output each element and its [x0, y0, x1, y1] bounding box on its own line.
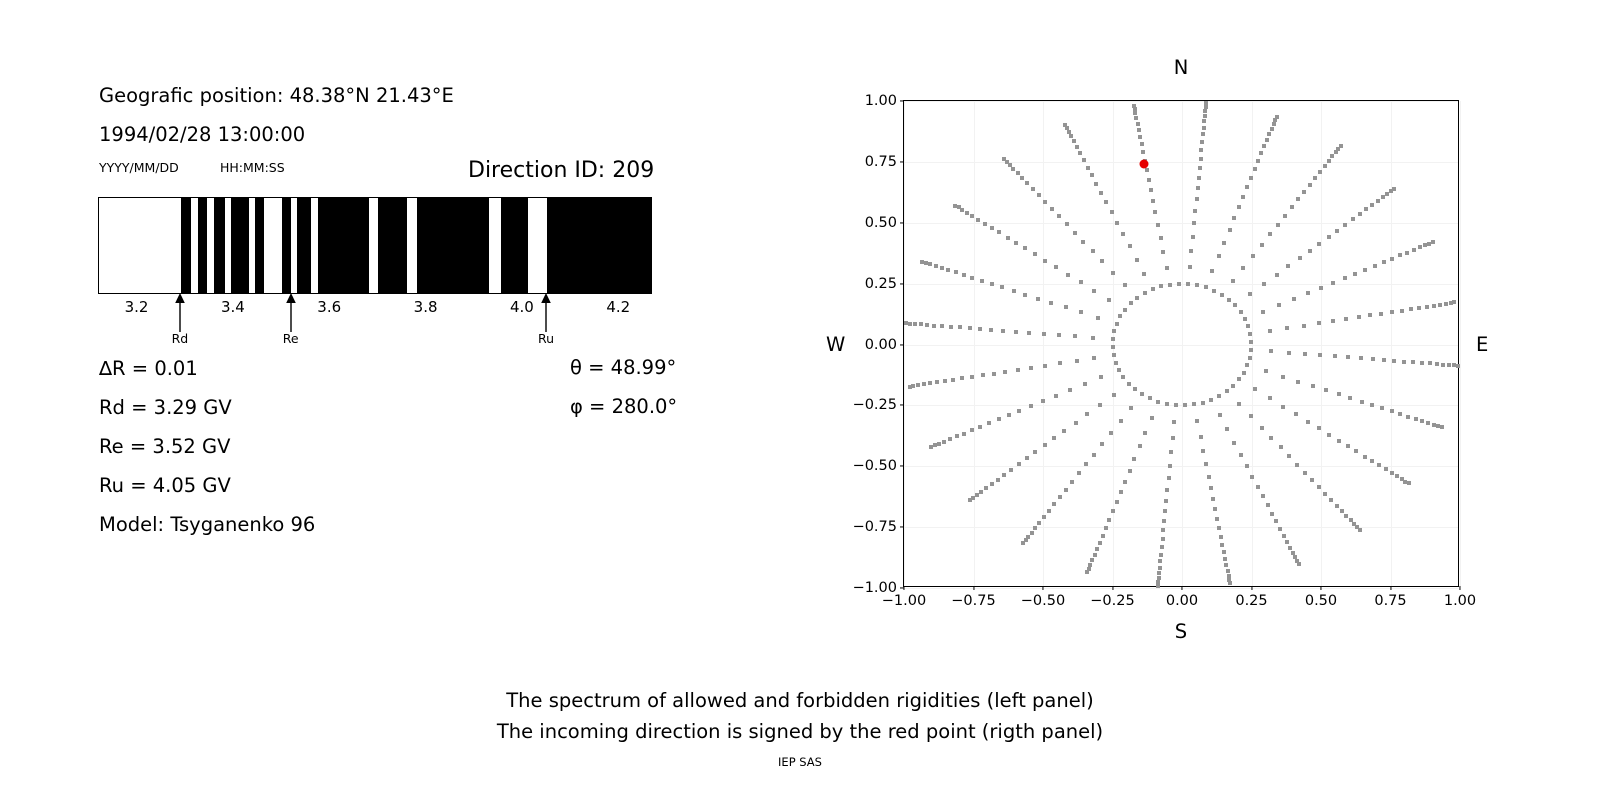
direction-point — [1303, 471, 1307, 475]
direction-point — [1318, 353, 1322, 357]
direction-point — [942, 440, 946, 444]
y-tick-mark — [900, 405, 904, 406]
rigidity-marker-re: Re — [284, 292, 298, 332]
direction-point — [1162, 519, 1166, 523]
direction-point — [1192, 402, 1196, 406]
direction-point — [1411, 360, 1415, 364]
direction-point — [924, 261, 928, 265]
direction-point — [1382, 358, 1386, 362]
caption-line-2: The incoming direction is signed by the … — [0, 716, 1600, 747]
direction-point — [1297, 562, 1301, 566]
direction-point — [1265, 138, 1269, 142]
y-tick-label: −0.50 — [853, 458, 897, 474]
direction-point — [1382, 260, 1386, 264]
direction-point — [1308, 183, 1312, 187]
direction-point — [1228, 228, 1232, 232]
y-tick-mark — [900, 222, 904, 223]
direction-point — [946, 268, 950, 272]
rigidity-tick-label: 4.0 — [510, 298, 534, 316]
direction-point — [1203, 109, 1207, 113]
direction-point — [1041, 399, 1045, 403]
forbidden-band — [318, 198, 369, 293]
y-tick-label: −0.75 — [853, 519, 897, 535]
y-tick-mark — [900, 100, 904, 101]
direction-point — [1420, 361, 1424, 365]
direction-point — [920, 260, 924, 264]
direction-point — [1133, 387, 1137, 391]
direction-point — [1132, 457, 1136, 461]
direction-point — [1343, 276, 1347, 280]
direction-point — [1270, 127, 1274, 131]
direction-point — [1075, 145, 1079, 149]
direction-point — [1400, 309, 1404, 313]
direction-point — [1407, 481, 1411, 485]
direction-point — [1118, 314, 1122, 318]
direction-point — [970, 276, 974, 280]
direction-point — [1210, 269, 1214, 273]
direction-point — [1093, 553, 1097, 557]
direction-point — [916, 383, 920, 387]
direction-point — [1195, 197, 1199, 201]
gridline-vertical — [904, 101, 905, 586]
direction-point — [1141, 150, 1145, 154]
direction-point — [1123, 283, 1127, 287]
direction-point — [1128, 469, 1132, 473]
direction-point — [1136, 122, 1140, 126]
direction-point — [1017, 462, 1021, 466]
direction-point — [1143, 291, 1147, 295]
datetime-label: 1994/02/28 13:00:00 — [99, 123, 305, 146]
direction-point — [1134, 116, 1138, 120]
direction-point — [1253, 167, 1257, 171]
direction-point — [904, 321, 908, 325]
direction-point — [1092, 356, 1096, 360]
direction-point — [1062, 429, 1066, 433]
direction-point — [955, 434, 959, 438]
direction-point — [1337, 392, 1341, 396]
direction-point — [1290, 205, 1294, 209]
forbidden-band — [501, 198, 527, 293]
direction-point — [1249, 176, 1253, 180]
direction-point — [1217, 526, 1221, 530]
direction-point — [1262, 282, 1266, 286]
direction-point — [1104, 200, 1108, 204]
direction-point — [984, 486, 988, 490]
direction-point — [1226, 569, 1230, 573]
direction-point — [1140, 392, 1144, 396]
direction-point — [1115, 322, 1119, 326]
direction-point — [1014, 241, 1018, 245]
direction-point — [1248, 356, 1252, 360]
direction-point — [1199, 157, 1203, 161]
direction-point — [1231, 384, 1235, 388]
direction-point — [1119, 490, 1123, 494]
direction-point — [1346, 355, 1350, 359]
direction-point — [937, 442, 941, 446]
direction-point — [1086, 166, 1090, 170]
x-tick-label: 0.75 — [1374, 593, 1406, 609]
direction-point — [1319, 286, 1323, 290]
direction-point — [1143, 431, 1147, 435]
x-tick-label: 0.25 — [1235, 593, 1267, 609]
gridline-horizontal — [904, 405, 1458, 406]
direction-point — [997, 230, 1001, 234]
direction-point — [1438, 303, 1442, 307]
direction-point — [1268, 329, 1272, 333]
direction-point — [1276, 223, 1280, 227]
direction-point — [1371, 357, 1375, 361]
direction-point — [1099, 375, 1103, 379]
direction-point — [1364, 207, 1368, 211]
direction-point — [1042, 332, 1046, 336]
direction-point — [1298, 256, 1302, 260]
x-tick-mark — [1181, 586, 1182, 590]
direction-point — [1406, 415, 1410, 419]
direction-point — [1090, 558, 1094, 562]
direction-point — [1043, 443, 1047, 447]
direction-point — [933, 443, 937, 447]
direction-point — [968, 498, 972, 502]
rigidity-tick-label: 3.6 — [317, 298, 341, 316]
direction-point — [1418, 245, 1422, 249]
direction-point — [990, 226, 994, 230]
direction-point — [1072, 139, 1076, 143]
direction-point — [989, 328, 993, 332]
x-tick-mark — [1251, 586, 1252, 590]
direction-point — [1261, 310, 1265, 314]
gridline-horizontal — [904, 284, 1458, 285]
compass-west-label: W — [826, 333, 845, 356]
direction-point — [951, 378, 955, 382]
direction-point — [1096, 316, 1100, 320]
direction-point — [1158, 566, 1162, 570]
direction-point — [1092, 289, 1096, 293]
compass-south-label: S — [1175, 620, 1187, 643]
direction-point — [1329, 498, 1333, 502]
direction-point — [1098, 403, 1102, 407]
direction-point — [1065, 222, 1069, 226]
direction-point — [1274, 519, 1278, 523]
compass-north-label: N — [1174, 56, 1189, 79]
direction-point — [1414, 417, 1418, 421]
direction-point — [1063, 123, 1067, 127]
direction-point — [1174, 403, 1178, 407]
direction-point — [1335, 229, 1339, 233]
direction-point — [1121, 375, 1125, 379]
direction-point — [1398, 412, 1402, 416]
spectrum-band-strip — [98, 197, 652, 294]
direction-point — [1264, 369, 1268, 373]
direction-point — [1158, 559, 1162, 563]
direction-point — [1358, 528, 1362, 532]
direction-point — [1370, 403, 1374, 407]
direction-point — [1140, 142, 1144, 146]
direction-point — [1368, 313, 1372, 317]
direction-point — [1420, 419, 1424, 423]
direction-point — [1165, 402, 1169, 406]
direction-point — [1148, 396, 1152, 400]
direction-point — [1337, 439, 1341, 443]
direction-point — [990, 282, 994, 286]
direction-point — [1370, 203, 1374, 207]
direction-point — [1363, 455, 1367, 459]
direction-point — [1358, 212, 1362, 216]
direction-point — [1058, 361, 1062, 365]
direction-point — [1073, 334, 1077, 338]
direction-point — [1225, 389, 1229, 393]
gridline-horizontal — [904, 345, 1458, 346]
direction-point — [1117, 368, 1121, 372]
direction-point — [1317, 321, 1321, 325]
direction-point — [953, 204, 957, 208]
direction-point — [1147, 178, 1151, 182]
direction-point — [1217, 394, 1221, 398]
up-arrow-icon — [173, 292, 187, 332]
x-tick-label: 0.50 — [1305, 593, 1337, 609]
direction-point — [1029, 404, 1033, 408]
direction-point — [1222, 241, 1226, 245]
direction-point — [1270, 512, 1274, 516]
direction-point — [1111, 271, 1115, 275]
direction-point — [1151, 199, 1155, 203]
direction-point — [1100, 259, 1104, 263]
direction-point — [1359, 356, 1363, 360]
y-tick-label: 0.75 — [865, 154, 897, 170]
direction-point — [1023, 246, 1027, 250]
direction-point — [940, 266, 944, 270]
direction-point — [997, 417, 1001, 421]
direction-point — [1129, 406, 1133, 410]
direction-point — [1441, 363, 1445, 367]
direction-point — [1052, 502, 1056, 506]
x-tick-mark — [1390, 586, 1391, 590]
direction-point — [1339, 144, 1343, 148]
direction-point — [1111, 345, 1115, 349]
direction-point — [1268, 232, 1272, 236]
direction-point — [1228, 581, 1232, 585]
direction-point — [1452, 300, 1456, 304]
direction-point — [1114, 361, 1118, 365]
direction-point — [1109, 431, 1113, 435]
gridline-vertical — [1043, 101, 1044, 586]
direction-point — [978, 425, 982, 429]
direction-point — [981, 373, 985, 377]
direction-point — [1213, 507, 1217, 511]
direction-point — [1256, 159, 1260, 163]
direction-point — [1237, 402, 1241, 406]
direction-point — [1281, 375, 1285, 379]
direction-point — [1277, 303, 1281, 307]
param-delta-r: ∆R = 0.01 — [99, 357, 198, 380]
direction-point — [948, 437, 952, 441]
direction-point — [1199, 148, 1203, 152]
direction-point — [1351, 217, 1355, 221]
direction-point — [1209, 486, 1213, 490]
x-tick-label: −0.50 — [1021, 593, 1065, 609]
direction-point — [1199, 435, 1203, 439]
direction-point — [1104, 526, 1108, 530]
direction-point — [1115, 221, 1119, 225]
gridline-horizontal — [904, 101, 1458, 102]
direction-point — [919, 322, 923, 326]
direction-point — [990, 482, 994, 486]
direction-point — [1232, 216, 1236, 220]
direction-point — [908, 322, 912, 326]
direction-point — [1249, 414, 1253, 418]
direction-point — [1288, 546, 1292, 550]
direction-point — [1286, 264, 1290, 268]
direction-point — [1296, 197, 1300, 201]
direction-point — [1318, 170, 1322, 174]
direction-point — [1384, 467, 1388, 471]
direction-point — [1209, 398, 1213, 402]
geographic-position-label: Geografic position: 48.38°N 21.43°E — [99, 84, 454, 107]
direction-point — [1335, 504, 1339, 508]
direction-point — [1025, 456, 1029, 460]
direction-point — [1249, 348, 1253, 352]
direction-point — [1016, 171, 1020, 175]
direction-point — [1047, 509, 1051, 513]
direction-point — [1211, 497, 1215, 501]
direction-point — [1327, 235, 1331, 239]
direction-point — [1050, 207, 1054, 211]
direction-point — [1112, 329, 1116, 333]
direction-point — [1425, 305, 1429, 309]
direction-point — [1204, 285, 1208, 289]
direction-point — [1272, 122, 1276, 126]
direction-point — [1302, 324, 1306, 328]
direction-point — [987, 421, 991, 425]
direction-point — [970, 428, 974, 432]
direction-point — [1287, 454, 1291, 458]
direction-point — [1346, 444, 1350, 448]
direction-point — [913, 322, 917, 326]
gridline-horizontal — [904, 162, 1458, 163]
direction-point — [1285, 540, 1289, 544]
direction-point — [1079, 280, 1083, 284]
direction-point — [1077, 471, 1081, 475]
gridline-vertical — [1321, 101, 1322, 586]
param-phi: φ = 280.0° — [570, 395, 677, 418]
direction-point — [1224, 563, 1228, 567]
direction-point — [1344, 317, 1348, 321]
direction-point — [1233, 303, 1237, 307]
direction-point — [1031, 187, 1035, 191]
direction-point — [928, 262, 932, 266]
direction-point — [908, 385, 912, 389]
x-tick-mark — [973, 586, 974, 590]
direction-point — [1002, 157, 1006, 161]
direction-point — [1296, 380, 1300, 384]
direction-point — [1402, 360, 1406, 364]
direction-point — [1303, 352, 1307, 356]
direction-point — [1057, 333, 1061, 337]
direction-point — [1123, 480, 1127, 484]
direction-point — [1110, 210, 1114, 214]
direction-point — [925, 323, 929, 327]
direction-point — [1343, 223, 1347, 227]
direction-point — [1363, 268, 1367, 272]
direction-point — [1186, 282, 1190, 286]
direction-point — [1165, 266, 1169, 270]
direction-point — [1294, 412, 1298, 416]
direction-point — [1222, 550, 1226, 554]
y-tick-mark — [900, 344, 904, 345]
caption-line-1: The spectrum of allowed and forbidden ri… — [0, 685, 1600, 716]
direction-point — [1390, 257, 1394, 261]
direction-point — [1275, 115, 1279, 119]
direction-point — [1003, 370, 1007, 374]
direction-point — [1027, 331, 1031, 335]
direction-point — [1241, 266, 1245, 270]
rigidity-axis: 3.23.43.63.84.04.2RdReRu — [98, 294, 652, 354]
direction-point — [1081, 240, 1085, 244]
direction-point — [1043, 364, 1047, 368]
direction-point — [1021, 541, 1025, 545]
direction-point — [1440, 425, 1444, 429]
direction-point — [929, 445, 933, 449]
up-arrow-icon — [284, 292, 298, 332]
direction-point — [1239, 453, 1243, 457]
direction-point — [1246, 324, 1250, 328]
direction-point — [968, 326, 972, 330]
forbidden-band — [198, 198, 208, 293]
direction-point — [940, 324, 944, 328]
direction-point — [1137, 128, 1141, 132]
y-tick-mark — [900, 283, 904, 284]
direction-point — [1333, 354, 1337, 358]
direction-point — [1250, 475, 1254, 479]
direction-point — [1009, 468, 1013, 472]
direction-point — [962, 432, 966, 436]
rigidity-marker-label: Ru — [538, 331, 554, 346]
direction-point — [1052, 436, 1056, 440]
direction-point — [1203, 114, 1207, 118]
direction-point — [1145, 168, 1149, 172]
rigidity-marker-ru: Ru — [539, 292, 553, 332]
direction-point — [1082, 158, 1086, 162]
direction-point — [1242, 371, 1246, 375]
direction-point — [1153, 210, 1157, 214]
direction-point — [1014, 330, 1018, 334]
direction-point — [1324, 388, 1328, 392]
direction-point — [1204, 462, 1208, 466]
x-tick-label: 0.00 — [1166, 593, 1198, 609]
direction-point — [970, 214, 974, 218]
direction-point — [911, 384, 915, 388]
direction-point — [1431, 240, 1435, 244]
forbidden-band — [214, 198, 225, 293]
direction-point — [1111, 509, 1115, 513]
direction-point — [1200, 140, 1204, 144]
param-theta: θ = 48.99° — [570, 356, 676, 379]
direction-point — [1054, 394, 1058, 398]
direction-point — [1011, 167, 1015, 171]
direction-point — [1006, 236, 1010, 240]
direction-point — [1156, 584, 1160, 588]
forbidden-band — [282, 198, 291, 293]
direction-point — [1310, 478, 1314, 482]
direction-point — [1323, 492, 1327, 496]
direction-point — [1058, 495, 1062, 499]
incoming-direction-panel: N S W E −1.00−0.75−0.50−0.250.000.250.50… — [780, 0, 1600, 680]
x-tick-mark — [1459, 586, 1460, 590]
direction-point — [935, 380, 939, 384]
direction-point — [1204, 105, 1208, 109]
date-format-hint: YYYY/MM/DD — [99, 160, 179, 175]
forbidden-band — [547, 198, 652, 293]
direction-point — [1101, 534, 1105, 538]
